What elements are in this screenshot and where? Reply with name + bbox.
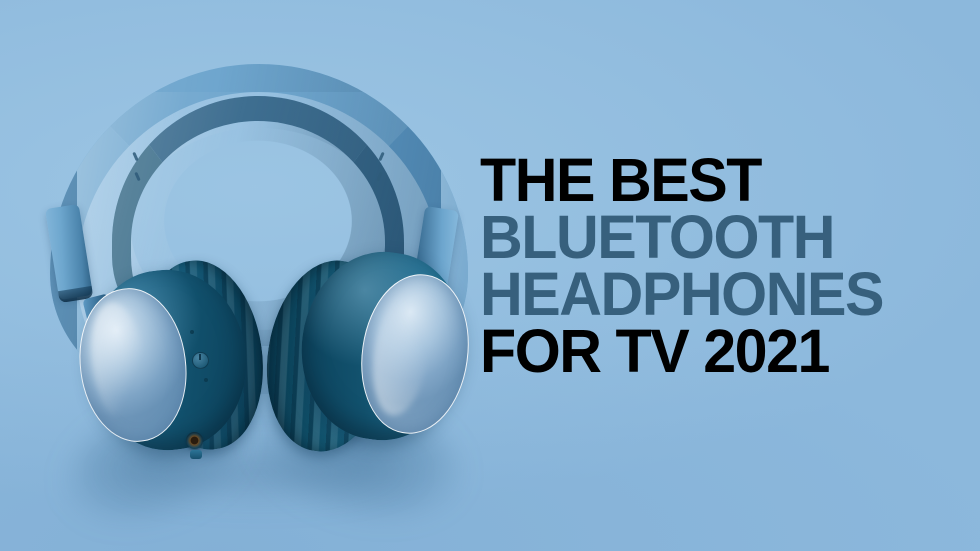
aux-jack-tab <box>190 450 202 459</box>
headline-line-4: FOR TV 2021 <box>480 323 936 380</box>
headline-line-2: BLUETOOTH <box>480 209 936 266</box>
led-indicator-icon <box>190 330 194 334</box>
headline-line-1: THE BEST <box>480 152 936 209</box>
headphones-product-image <box>34 56 484 506</box>
power-button[interactable] <box>192 352 209 369</box>
microphone-pinhole-icon <box>204 378 208 382</box>
poster-canvas: THE BEST BLUETOOTH HEADPHONES FOR TV 202… <box>0 0 980 551</box>
headline-block: THE BEST BLUETOOTH HEADPHONES FOR TV 202… <box>480 152 950 380</box>
headline-line-3: HEADPHONES <box>480 266 936 323</box>
earcup-left <box>82 256 272 461</box>
earcup-right <box>266 252 476 464</box>
aux-audio-jack <box>186 432 203 449</box>
